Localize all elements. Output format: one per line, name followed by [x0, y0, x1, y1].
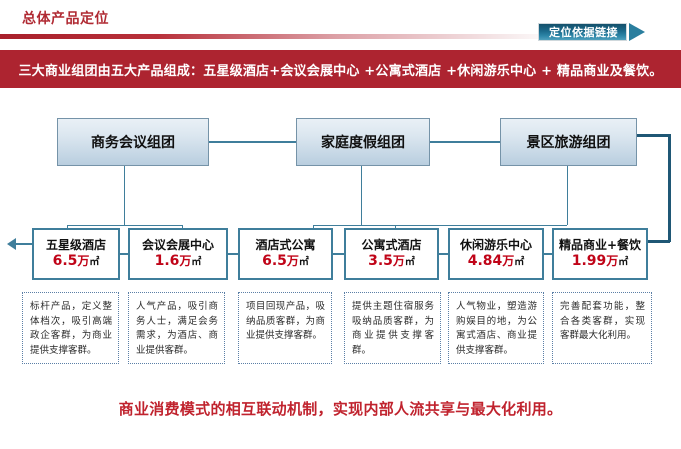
- product-area-unit: ㎡: [89, 257, 99, 268]
- product-area: 3.5万㎡: [368, 254, 415, 269]
- footer-conclusion: 商业消费模式的相互联动机制，实现内部人流共享与最大化利用。: [0, 398, 681, 419]
- connector-product0-product1: [120, 253, 128, 255]
- product-area-unit: ㎡: [405, 257, 415, 268]
- description-text: 人气产品，吸引商务人士，满足会务需求，为酒店、商业提供客群。: [136, 301, 218, 356]
- connector-group0-bus: [67, 225, 182, 226]
- product-box-convention-center[interactable]: 会议会展中心 1.6万㎡: [128, 228, 228, 280]
- description-text: 人气物业，塑造游购娱目的地，为公寓式酒店、商业提供支撑客群。: [456, 301, 537, 356]
- page-title: 总体产品定位: [22, 8, 109, 28]
- product-area-value: 4.84: [468, 253, 503, 269]
- connector-product2-product3: [333, 253, 344, 255]
- product-area: 6.5万㎡: [262, 254, 309, 269]
- connector-right-rail: [668, 134, 671, 242]
- link-badge-label: 定位依据链接: [549, 24, 618, 40]
- connector-group0-group1: [209, 141, 296, 143]
- summary-banner-text: 三大商业组团由五大产品组成：五星级酒店+会议会展中心 +公寓式酒店 +休闲游乐中…: [18, 60, 662, 79]
- product-name: 精品商业+餐饮: [559, 239, 641, 252]
- product-area: 1.6万㎡: [155, 254, 202, 269]
- product-box-apartment-hotel[interactable]: 公寓式酒店 3.5万㎡: [344, 228, 439, 280]
- link-badge[interactable]: 定位依据链接: [538, 23, 627, 41]
- description-text: 标杆产品，定义整体档次，吸引高端政企客群，为商业提供支撑客群。: [30, 301, 112, 356]
- connector-product1-product2: [228, 253, 238, 255]
- product-area-unit: ㎡: [514, 257, 524, 268]
- description-text: 提供主题住宿服务吸纳品质客群，为商业提供支撑客群。: [352, 301, 434, 356]
- connector-group1-drop: [361, 166, 362, 225]
- group-box-scenic-tourism[interactable]: 景区旅游组团: [500, 118, 637, 166]
- product-area: 1.99万㎡: [572, 254, 629, 269]
- connector-group2-drop: [567, 166, 568, 225]
- group-box-label: 家庭度假组团: [321, 132, 405, 152]
- product-area-value: 3.5: [368, 253, 393, 269]
- product-area-suffix: 万: [77, 254, 89, 268]
- product-name: 休闲游乐中心: [460, 239, 532, 252]
- title-divider: [0, 34, 560, 39]
- connector-group0-drop: [124, 166, 125, 225]
- product-area-value: 1.6: [155, 253, 180, 269]
- badge-arrow-icon: [629, 23, 645, 41]
- group-box-label: 商务会议组团: [91, 132, 175, 152]
- product-area: 4.84万㎡: [468, 254, 525, 269]
- product-area-suffix: 万: [502, 254, 514, 268]
- product-area-suffix: 万: [287, 254, 299, 268]
- product-box-five-star-hotel[interactable]: 五星级酒店 6.5万㎡: [32, 228, 120, 280]
- connector-product4-product5: [544, 253, 552, 255]
- connector-group1-group2: [430, 141, 500, 143]
- left-flow-line: [14, 243, 32, 245]
- product-area-unit: ㎡: [299, 257, 309, 268]
- description-box-retail-dining: 完善配套功能，整合各类客群，实现客群最大化利用。: [552, 292, 652, 364]
- product-area: 6.5万㎡: [53, 254, 100, 269]
- connector-group2-right: [637, 134, 671, 137]
- description-box-serviced-apartment: 项目回现产品，吸纳品质客群，为商业提供支撑客群。: [238, 292, 332, 364]
- product-area-value: 1.99: [572, 253, 607, 269]
- group-box-family-vacation[interactable]: 家庭度假组团: [296, 118, 430, 166]
- description-box-convention-center: 人气产品，吸引商务人士，满足会务需求，为酒店、商业提供客群。: [128, 292, 225, 364]
- description-text: 完善配套功能，整合各类客群，实现客群最大化利用。: [560, 301, 645, 341]
- summary-banner: 三大商业组团由五大产品组成：五星级酒店+会议会展中心 +公寓式酒店 +休闲游乐中…: [0, 50, 681, 88]
- description-box-apartment-hotel: 提供主题住宿服务吸纳品质客群，为商业提供支撑客群。: [344, 292, 441, 364]
- description-box-five-star-hotel: 标杆产品，定义整体档次，吸引高端政企客群，为商业提供支撑客群。: [22, 292, 119, 364]
- description-text: 项目回现产品，吸纳品质客群，为商业提供支撑客群。: [246, 301, 325, 341]
- product-name: 酒店式公寓: [255, 239, 315, 252]
- product-area-suffix: 万: [606, 254, 618, 268]
- product-box-leisure-center[interactable]: 休闲游乐中心 4.84万㎡: [448, 228, 544, 280]
- description-box-leisure-center: 人气物业，塑造游购娱目的地，为公寓式酒店、商业提供支撑客群。: [448, 292, 544, 364]
- product-area-unit: ㎡: [618, 257, 628, 268]
- product-name: 五星级酒店: [46, 239, 106, 252]
- slide-root: 总体产品定位 定位依据链接 三大商业组团由五大产品组成：五星级酒店+会议会展中心…: [0, 0, 681, 449]
- product-area-suffix: 万: [179, 254, 191, 268]
- product-box-serviced-apartment[interactable]: 酒店式公寓 6.5万㎡: [238, 228, 333, 280]
- left-arrow-icon: [7, 238, 16, 250]
- product-name: 会议会展中心: [142, 239, 214, 252]
- connector-group1-bus: [313, 225, 567, 226]
- product-box-retail-dining[interactable]: 精品商业+餐饮 1.99万㎡: [552, 228, 648, 280]
- product-area-suffix: 万: [393, 254, 405, 268]
- product-area-value: 6.5: [262, 253, 287, 269]
- connector-product3-product4: [439, 253, 448, 255]
- group-box-label: 景区旅游组团: [527, 132, 611, 152]
- product-area-unit: ㎡: [191, 257, 201, 268]
- product-name: 公寓式酒店: [361, 239, 421, 252]
- group-box-business-conference[interactable]: 商务会议组团: [57, 118, 209, 166]
- product-area-value: 6.5: [53, 253, 78, 269]
